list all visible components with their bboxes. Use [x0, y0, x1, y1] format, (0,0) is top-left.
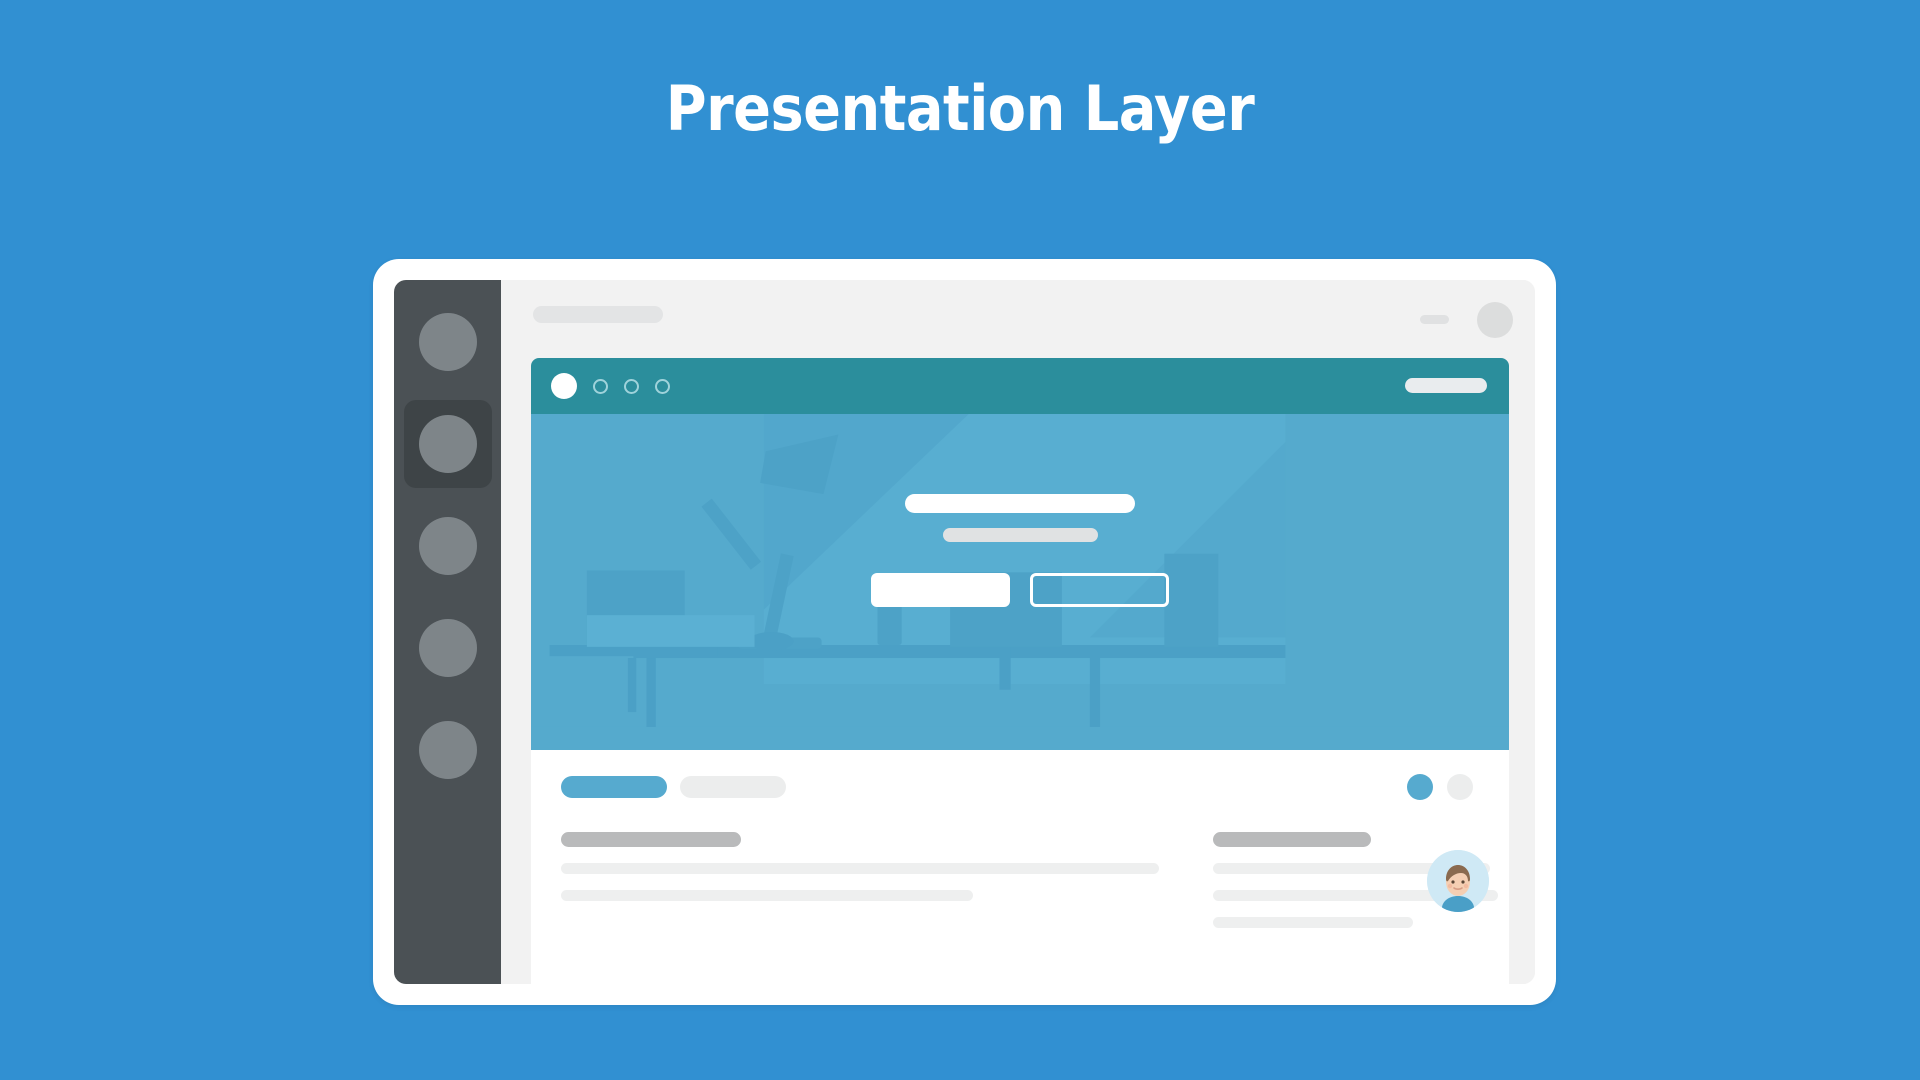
text-line: [561, 890, 973, 901]
content-columns: [561, 832, 1479, 928]
sidebar-item-2[interactable]: [404, 400, 492, 488]
content-column-left: [561, 832, 1122, 928]
circle-icon: [419, 313, 477, 371]
browser-window: [531, 358, 1509, 984]
tab-2[interactable]: [680, 776, 786, 798]
column-heading-placeholder: [561, 832, 741, 847]
sidebar-item-5[interactable]: [404, 706, 492, 794]
person-avatar-icon: [1427, 850, 1489, 912]
circle-icon: [419, 415, 477, 473]
circle-icon: [419, 619, 477, 677]
page-dot-2[interactable]: [1447, 774, 1473, 800]
circle-icon: [419, 721, 477, 779]
hero-content: [531, 494, 1509, 607]
app-topbar: [501, 280, 1535, 358]
tablet-screen: [394, 280, 1535, 984]
page-dot-1[interactable]: [1407, 774, 1433, 800]
app-title-placeholder: [533, 306, 663, 323]
column-heading-placeholder: [1213, 832, 1371, 847]
app-content-area: [501, 280, 1535, 984]
tablet-device: [373, 259, 1556, 1005]
sidebar-item-3[interactable]: [404, 502, 492, 590]
circle-icon: [419, 517, 477, 575]
sidebar-item-1[interactable]: [404, 298, 492, 386]
text-line: [1213, 917, 1413, 928]
hero-primary-button[interactable]: [871, 573, 1010, 607]
sidebar-item-4[interactable]: [404, 604, 492, 692]
browser-titlebar: [531, 358, 1509, 414]
browser-dot-2[interactable]: [624, 379, 639, 394]
browser-dot-3[interactable]: [655, 379, 670, 394]
address-bar[interactable]: [1405, 378, 1487, 393]
tab-bar: [561, 776, 1479, 798]
avatar-icon[interactable]: [1477, 302, 1513, 338]
minimize-icon[interactable]: [1420, 315, 1449, 324]
page-title: Presentation Layer: [0, 72, 1920, 145]
user-avatar[interactable]: [1427, 850, 1489, 912]
text-line: [561, 863, 1159, 874]
hero-secondary-button[interactable]: [1030, 573, 1169, 607]
browser-dot-1[interactable]: [593, 379, 608, 394]
hero-subhead-placeholder: [943, 528, 1098, 542]
app-sidebar: [394, 280, 501, 984]
hero-button-group: [871, 573, 1169, 607]
pagination: [1407, 774, 1473, 800]
hero-section: [531, 414, 1509, 750]
hero-headline-placeholder: [905, 494, 1135, 513]
browser-dot-active[interactable]: [551, 373, 577, 399]
lower-content-section: [531, 750, 1509, 970]
tab-1[interactable]: [561, 776, 667, 798]
